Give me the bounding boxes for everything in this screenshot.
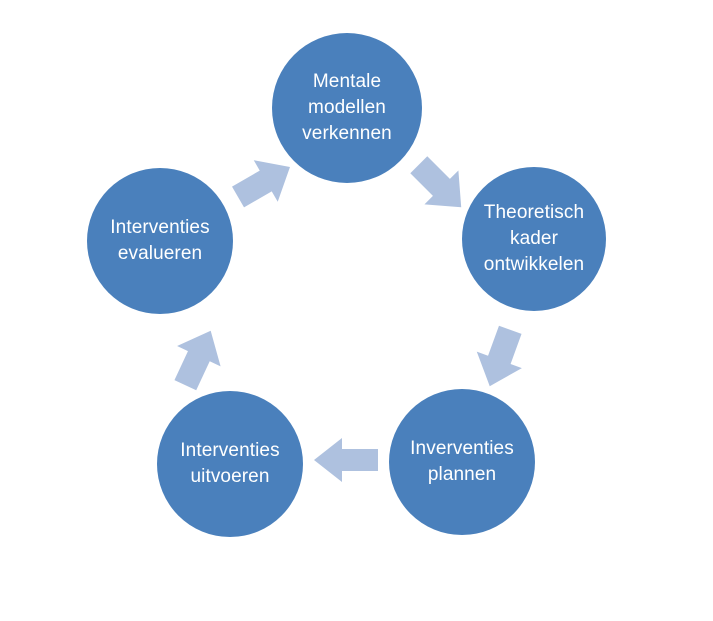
arrow-bottom-left-to-left: [162, 322, 234, 394]
cycle-node-label: Inverventies plannen: [402, 436, 522, 488]
cycle-node-interventies-evalueren[interactable]: Interventies evalueren: [87, 168, 233, 314]
cycle-node-label: Interventies evalueren: [102, 215, 217, 267]
cycle-node-label: Interventies uitvoeren: [172, 438, 287, 490]
cycle-node-theoretisch-kader-ontwikkelen[interactable]: Theoretisch kader ontwikkelen: [462, 167, 606, 311]
cycle-node-interventies-uitvoeren[interactable]: Interventies uitvoeren: [157, 391, 303, 537]
cycle-node-label: Mentale modellen verkennen: [294, 69, 400, 147]
arrow-top-to-right: [404, 150, 476, 222]
cycle-diagram: Mentale modellen verkennen Theoretisch k…: [0, 0, 713, 621]
cycle-node-mentale-modellen-verkennen[interactable]: Mentale modellen verkennen: [272, 33, 422, 183]
cycle-node-inverventies-plannen[interactable]: Inverventies plannen: [389, 389, 535, 535]
arrow-bottom-right-to-bottom-left: [310, 430, 382, 490]
cycle-node-label: Theoretisch kader ontwikkelen: [476, 200, 592, 278]
arrow-right-to-bottom-right: [464, 322, 536, 394]
